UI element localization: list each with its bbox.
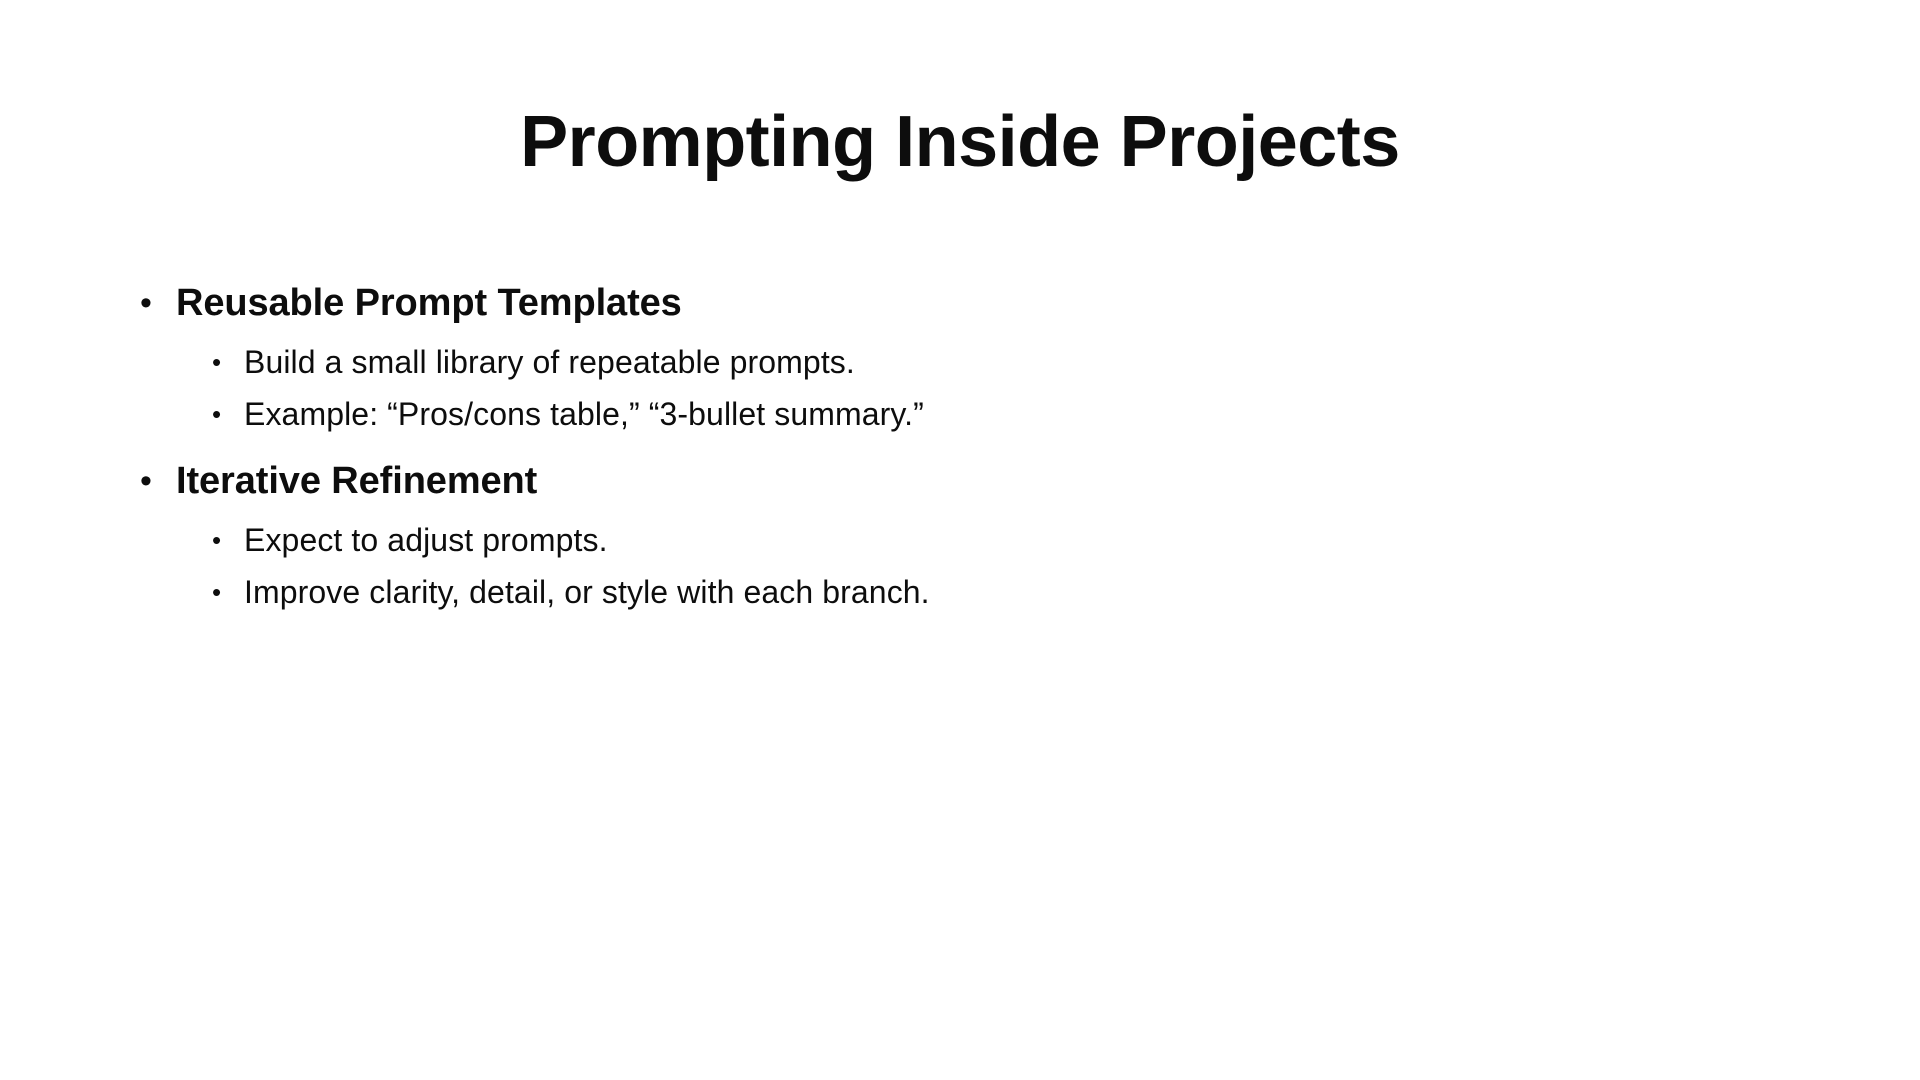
list-item-label: Build a small library of repeatable prom… <box>244 336 855 388</box>
bullet-icon: • <box>212 566 244 618</box>
bullet-icon: • <box>212 336 244 388</box>
list-item-label: Iterative Refinement <box>176 450 537 512</box>
page-title: Prompting Inside Projects <box>0 102 1920 183</box>
bullet-icon: • <box>140 450 176 512</box>
bullet-icon: • <box>140 272 176 334</box>
list-item-label: Example: “Pros/cons table,” “3-bullet su… <box>244 388 924 440</box>
list-item-heading: • Iterative Refinement <box>140 450 1780 512</box>
bullet-list: • Reusable Prompt Templates • Build a sm… <box>140 272 1780 618</box>
bullet-icon: • <box>212 388 244 440</box>
list-item-sub: • Improve clarity, detail, or style with… <box>212 566 1780 618</box>
list-item-sub: • Example: “Pros/cons table,” “3-bullet … <box>212 388 1780 440</box>
list-item-sub: • Expect to adjust prompts. <box>212 514 1780 566</box>
list-item-sub: • Build a small library of repeatable pr… <box>212 336 1780 388</box>
list-item-heading: • Reusable Prompt Templates <box>140 272 1780 334</box>
group-spacer <box>140 440 1780 450</box>
list-item-label: Improve clarity, detail, or style with e… <box>244 566 930 618</box>
list-item-label: Expect to adjust prompts. <box>244 514 608 566</box>
bullet-icon: • <box>212 514 244 566</box>
list-item-label: Reusable Prompt Templates <box>176 272 682 334</box>
slide-canvas: Prompting Inside Projects • Reusable Pro… <box>0 0 1920 1080</box>
